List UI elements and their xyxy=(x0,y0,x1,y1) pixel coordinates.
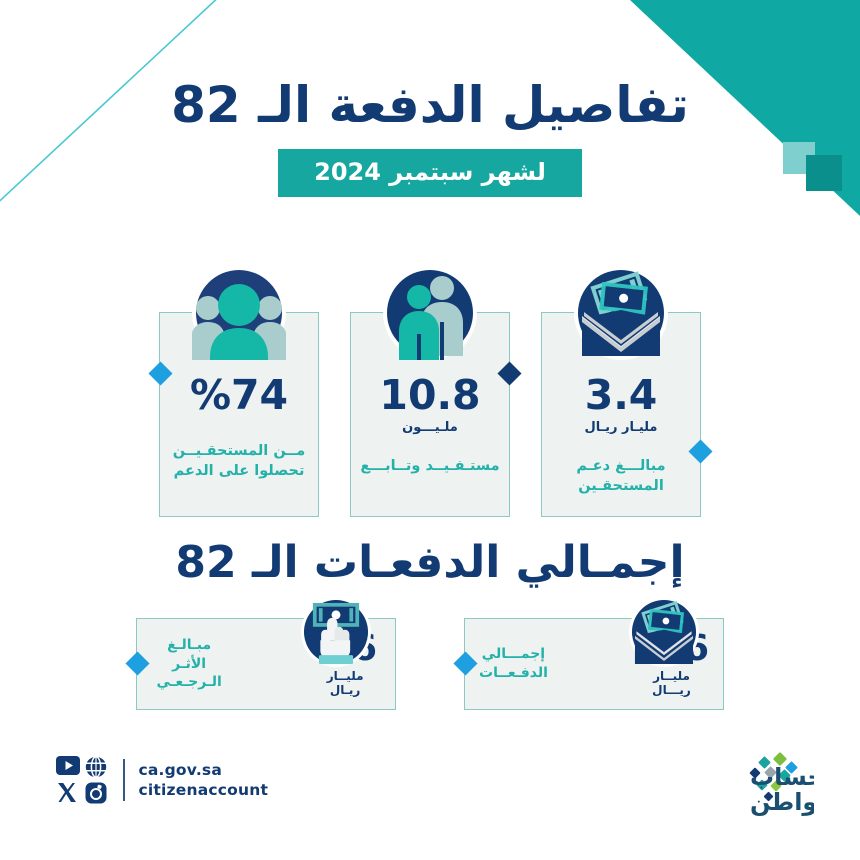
stat-label: مــن المستحقـيــن تحصلوا على الدعم xyxy=(160,442,318,481)
footer-handles: ca.gov.sa citizenaccount xyxy=(139,761,269,799)
logo-line2: المواطن xyxy=(750,788,814,816)
stat-unit: مليــار ريـال xyxy=(313,669,377,697)
diamond-marker xyxy=(453,651,477,675)
bottom-stats-row: إجمـــالي الدفـعــات 216 مليــار ريـــال xyxy=(0,618,860,710)
people-group-icon xyxy=(192,266,286,360)
two-people-icon xyxy=(383,266,477,360)
youtube-icon[interactable] xyxy=(56,756,80,777)
footer: ca.gov.sa citizenaccount حساب المو xyxy=(0,752,860,822)
stat-card-support-amount: 3.4 مليـار ريـال مبالـــغ دعـم المستحقـي… xyxy=(541,312,701,517)
diamond-marker xyxy=(497,361,521,385)
stat-unit: ملـيـــون xyxy=(402,420,458,435)
stat-label: مبالـــغ دعـم المستحقـين xyxy=(542,457,700,496)
header: تفاصيل الدفعة الـ 82 لشهر سبتمبر 2024 xyxy=(0,78,860,197)
instagram-icon[interactable] xyxy=(85,782,109,803)
stat-label: مبـالـغ الأثـر الـرجـعـي xyxy=(151,636,227,693)
stat-value: 10.8 xyxy=(379,375,480,416)
stat-card-retroactive-amount: مبـالـغ الأثـر الـرجـعـي 2.6 مليــار ريـ… xyxy=(136,618,396,710)
website-url[interactable]: ca.gov.sa xyxy=(139,761,269,779)
social-block: ca.gov.sa citizenaccount xyxy=(56,756,268,803)
brand-logo: حساب المواطن xyxy=(654,752,814,818)
money-envelope-icon xyxy=(574,266,668,360)
money-envelope-icon xyxy=(629,597,699,667)
stat-value: 3.4 xyxy=(585,375,658,416)
social-icons xyxy=(56,756,109,803)
hand-money-icon xyxy=(301,597,371,667)
section-heading: إجمـالي الدفعـات الـ 82 xyxy=(0,537,860,588)
stat-unit: مليـار ريـال xyxy=(585,420,658,435)
logo-line1: حساب xyxy=(750,763,814,791)
top-stats-row: 3.4 مليـار ريـال مبالـــغ دعـم المستحقـي… xyxy=(0,312,860,517)
diamond-marker xyxy=(148,361,172,385)
stat-card-beneficiaries: 10.8 ملـيـــون مستـفـيــد وتــابـــع xyxy=(350,312,510,517)
stat-label: إجمـــالي الدفـعــات xyxy=(479,645,548,683)
stat-card-total-payments: إجمـــالي الدفـعــات 216 مليــار ريـــال xyxy=(464,618,724,710)
stat-value: %74 xyxy=(190,375,288,416)
page-title: تفاصيل الدفعة الـ 82 xyxy=(0,78,860,133)
stat-label: مستـفـيــد وتــابـــع xyxy=(360,457,499,477)
x-twitter-icon[interactable] xyxy=(56,782,80,803)
footer-divider xyxy=(123,759,125,801)
social-handle[interactable]: citizenaccount xyxy=(139,781,269,799)
stat-card-percentage: %74 مــن المستحقـيــن تحصلوا على الدعم xyxy=(159,312,319,517)
infographic-canvas: تفاصيل الدفعة الـ 82 لشهر سبتمبر 2024 xyxy=(0,0,860,860)
globe-icon[interactable] xyxy=(85,756,109,777)
stat-unit: مليــار ريـــال xyxy=(634,669,709,697)
diamond-marker xyxy=(125,651,149,675)
month-badge: لشهر سبتمبر 2024 xyxy=(278,149,582,197)
